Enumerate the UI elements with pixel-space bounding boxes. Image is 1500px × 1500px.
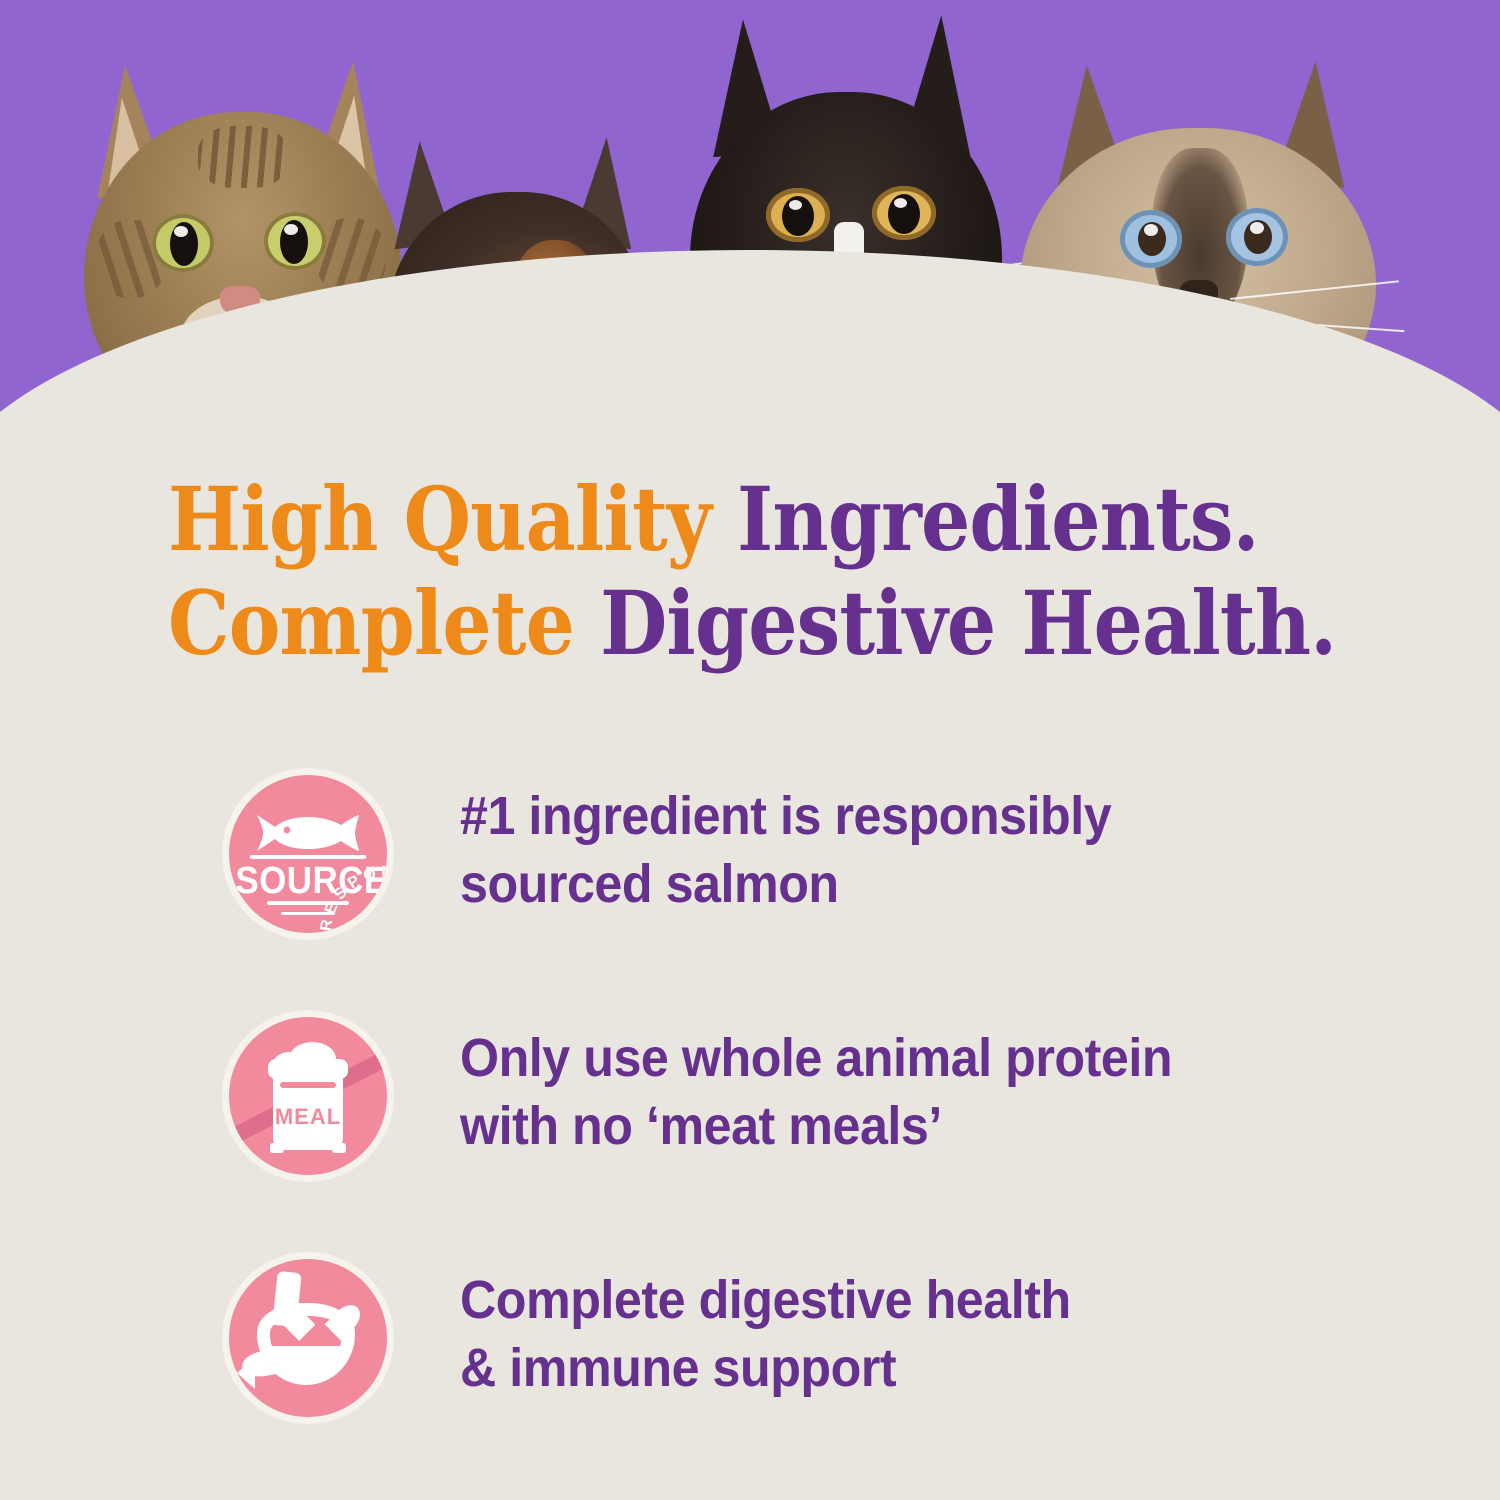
headline-line-1-orange: High Quality <box>168 467 737 571</box>
cat-eye-gleam-right <box>1250 222 1264 234</box>
badge-line-b <box>281 912 335 916</box>
headline-line-2-orange: Complete <box>168 571 600 675</box>
cat-forehead-stripes <box>198 126 288 188</box>
duodenum-tip <box>237 1357 255 1389</box>
responsibly-sourced-fish-badge: RESPONSIBLY SOURCED <box>222 768 394 940</box>
list-item: MEAL Only use whole animal protein with … <box>0 1010 1500 1252</box>
badge-word-sourced: SOURCED <box>235 860 380 903</box>
hero-banner <box>0 0 1500 430</box>
heart-icon <box>299 1306 342 1346</box>
list-item: RESPONSIBLY SOURCED #1 ingredient is res… <box>0 768 1500 1010</box>
sack-foot-left <box>270 1143 284 1152</box>
headline-line-2-purple: Digestive Health. <box>600 571 1336 675</box>
badge-word-meal: MEAL <box>229 1104 387 1130</box>
stomach-heart-digestive-badge <box>222 1252 394 1424</box>
feature-list: RESPONSIBLY SOURCED #1 ingredient is res… <box>0 768 1500 1494</box>
badge-artwork: MEAL <box>229 1017 387 1175</box>
badge-artwork <box>229 1259 387 1417</box>
cat-eye-gleam-right <box>894 198 907 208</box>
cat-eye-gleam-left <box>789 200 802 210</box>
feature-text: Complete digestive health & immune suppo… <box>460 1266 1297 1402</box>
badge-divider-top <box>250 855 367 859</box>
badge-artwork: RESPONSIBLY SOURCED <box>229 775 387 933</box>
headline-line-1: High Quality Ingredients. <box>168 468 1268 572</box>
page-title: High Quality Ingredients. Complete Diges… <box>168 468 1268 676</box>
cat-eye-gleam-left <box>1144 224 1158 236</box>
headline-line-1-purple: Ingredients. <box>737 467 1259 571</box>
no-meat-meal-sack-badge: MEAL <box>222 1010 394 1182</box>
headline-line-2: Complete Digestive Health. <box>168 572 1268 676</box>
sack-band <box>280 1082 337 1088</box>
cat-eye-gleam-left <box>174 226 188 237</box>
feature-text: #1 ingredient is responsibly sourced sal… <box>460 782 1297 918</box>
list-item: Complete digestive health & immune suppo… <box>0 1252 1500 1494</box>
sack-foot-right <box>332 1143 346 1152</box>
badge-line-a <box>267 901 349 905</box>
feature-text: Only use whole animal protein with no ‘m… <box>460 1024 1297 1160</box>
cat-eye-gleam-right <box>284 224 298 235</box>
arc-letter: R <box>318 919 337 933</box>
